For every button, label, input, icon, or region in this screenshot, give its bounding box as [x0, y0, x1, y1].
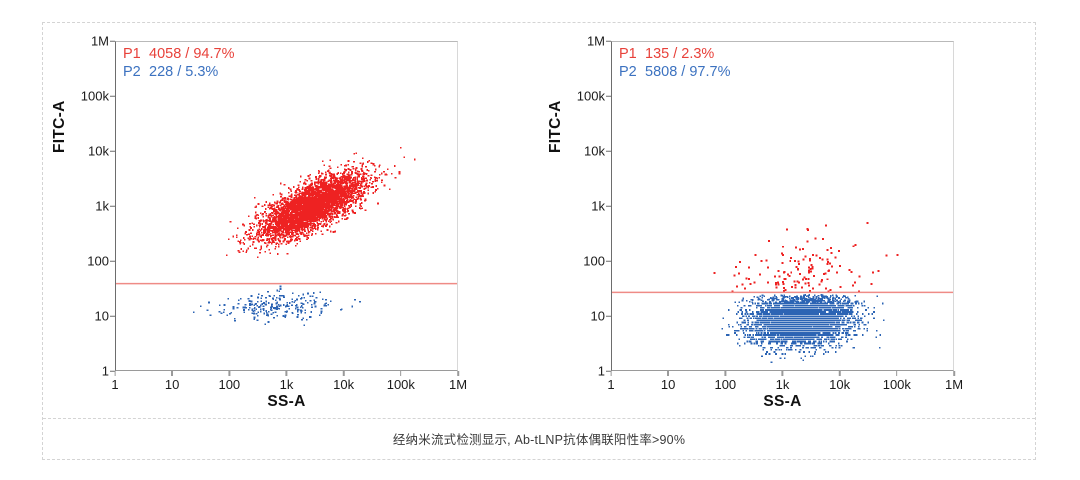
y-tick-100k: 100k: [81, 89, 109, 104]
x-tick-100: 100: [714, 377, 736, 392]
x-tick-100: 100: [218, 377, 240, 392]
y-tick-10: 10: [591, 309, 605, 324]
caption-area: 经纳米流式检测显示, Ab-tLNP抗体偶联阳性率>90%: [43, 418, 1035, 459]
x-tick-10k: 10k: [829, 377, 850, 392]
x-axis-ticks-right: 1101001k10k100k1M: [611, 373, 956, 395]
scatter-series-p2: [193, 286, 361, 327]
y-axis-ticks-right: 1M100k10k1k100101: [539, 23, 611, 353]
y-tick-100: 100: [87, 254, 109, 269]
x-tick-1k: 1k: [776, 377, 790, 392]
x-tick-1: 1: [111, 377, 118, 392]
y-axis-ticks-left: 1M100k10k1k100101: [43, 23, 115, 353]
scatter-svg-left: [116, 42, 457, 370]
scatter-panel-left: FITC-A 1M100k10k1k100101 P1 4058 / 94.7%…: [43, 23, 539, 418]
x-tick-1M: 1M: [945, 377, 963, 392]
x-tick-100k: 100k: [387, 377, 415, 392]
scatter-series-p2: [721, 294, 884, 363]
x-axis-label-right: SS-A: [611, 393, 954, 411]
y-tick-100k: 100k: [577, 89, 605, 104]
y-tick-100: 100: [583, 254, 605, 269]
figure-caption: 经纳米流式检测显示, Ab-tLNP抗体偶联阳性率>90%: [393, 429, 685, 448]
x-tick-100k: 100k: [883, 377, 911, 392]
x-tick-10: 10: [165, 377, 179, 392]
y-tick-10k: 10k: [584, 144, 605, 159]
scatter-series-p1: [714, 222, 899, 293]
plot-area-right[interactable]: [611, 41, 954, 371]
x-tick-10k: 10k: [333, 377, 354, 392]
x-tick-10: 10: [661, 377, 675, 392]
y-tick-1: 1: [598, 364, 605, 379]
scatter-panel-right: FITC-A 1M100k10k1k100101 P1 135 / 2.3% P…: [539, 23, 1035, 418]
scatter-svg-right: [612, 42, 953, 370]
x-tick-1k: 1k: [280, 377, 294, 392]
y-tick-1M: 1M: [587, 34, 605, 49]
plot-area-left[interactable]: [115, 41, 458, 371]
y-tick-1k: 1k: [591, 199, 605, 214]
y-tick-10k: 10k: [88, 144, 109, 159]
x-axis-ticks-left: 1101001k10k100k1M: [115, 373, 460, 395]
x-tick-1: 1: [607, 377, 614, 392]
y-tick-1k: 1k: [95, 199, 109, 214]
y-tick-1: 1: [102, 364, 109, 379]
plots-row: FITC-A 1M100k10k1k100101 P1 4058 / 94.7%…: [43, 23, 1035, 418]
x-tick-1M: 1M: [449, 377, 467, 392]
y-tick-1M: 1M: [91, 34, 109, 49]
scatter-series-p1: [226, 147, 416, 258]
x-axis-label-left: SS-A: [115, 393, 458, 411]
y-tick-10: 10: [95, 309, 109, 324]
figure-container: FITC-A 1M100k10k1k100101 P1 4058 / 94.7%…: [42, 22, 1036, 460]
